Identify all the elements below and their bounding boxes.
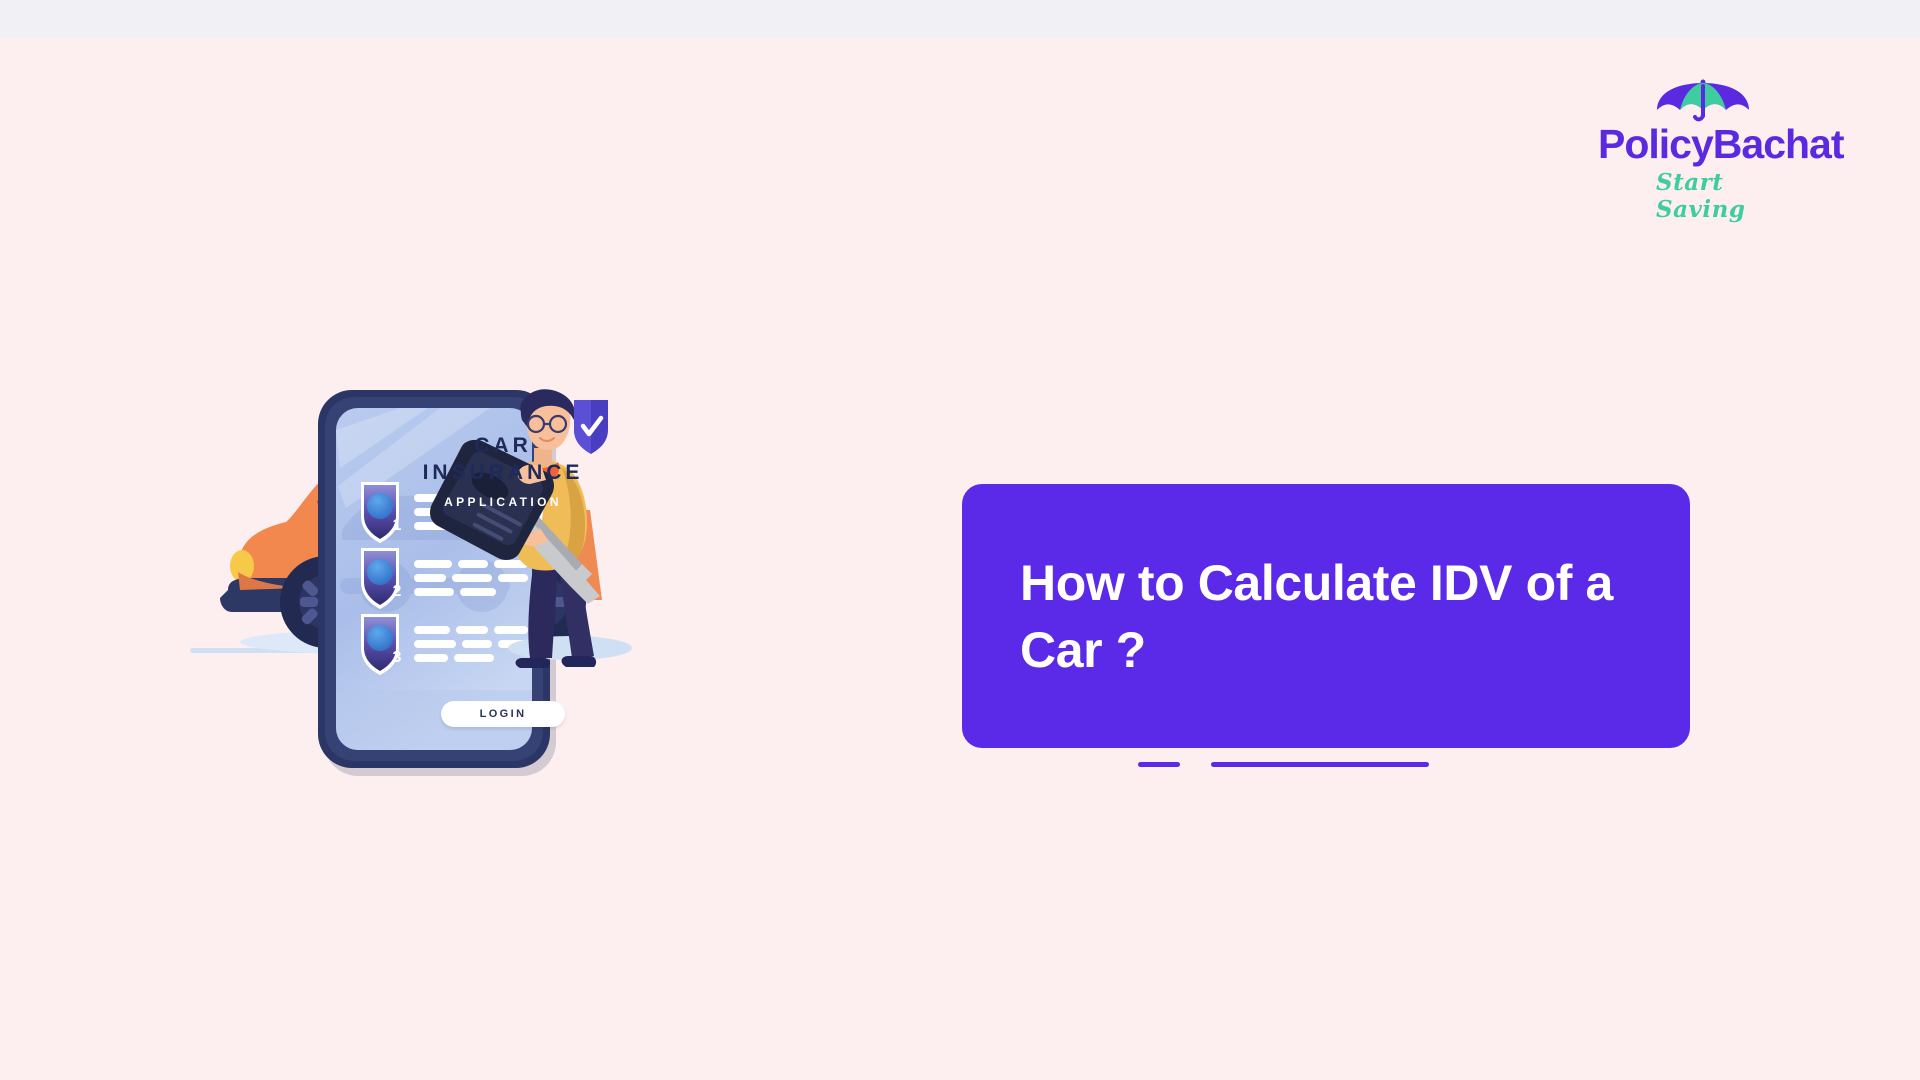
accent-bar-short [1138,762,1180,767]
hero-illustration: CAR INSURANCE APPLICATION 1 2 3 LOGIN [190,390,810,820]
brand-logo[interactable]: PolicyBachat Start Saving [1598,78,1808,188]
page-title: How to Calculate IDV of a Car ? [1020,550,1660,683]
top-strip [0,0,1920,38]
shield-check-badge [574,400,608,454]
umbrella-icon [1598,78,1808,122]
brand-name: PolicyBachat [1598,124,1808,165]
brand-tagline: Start Saving [1656,169,1808,223]
headline-card: How to Calculate IDV of a Car ? [962,484,1690,748]
illustration-svg [190,390,810,820]
accent-bar-long [1211,762,1429,767]
phone-mockup [318,390,556,776]
